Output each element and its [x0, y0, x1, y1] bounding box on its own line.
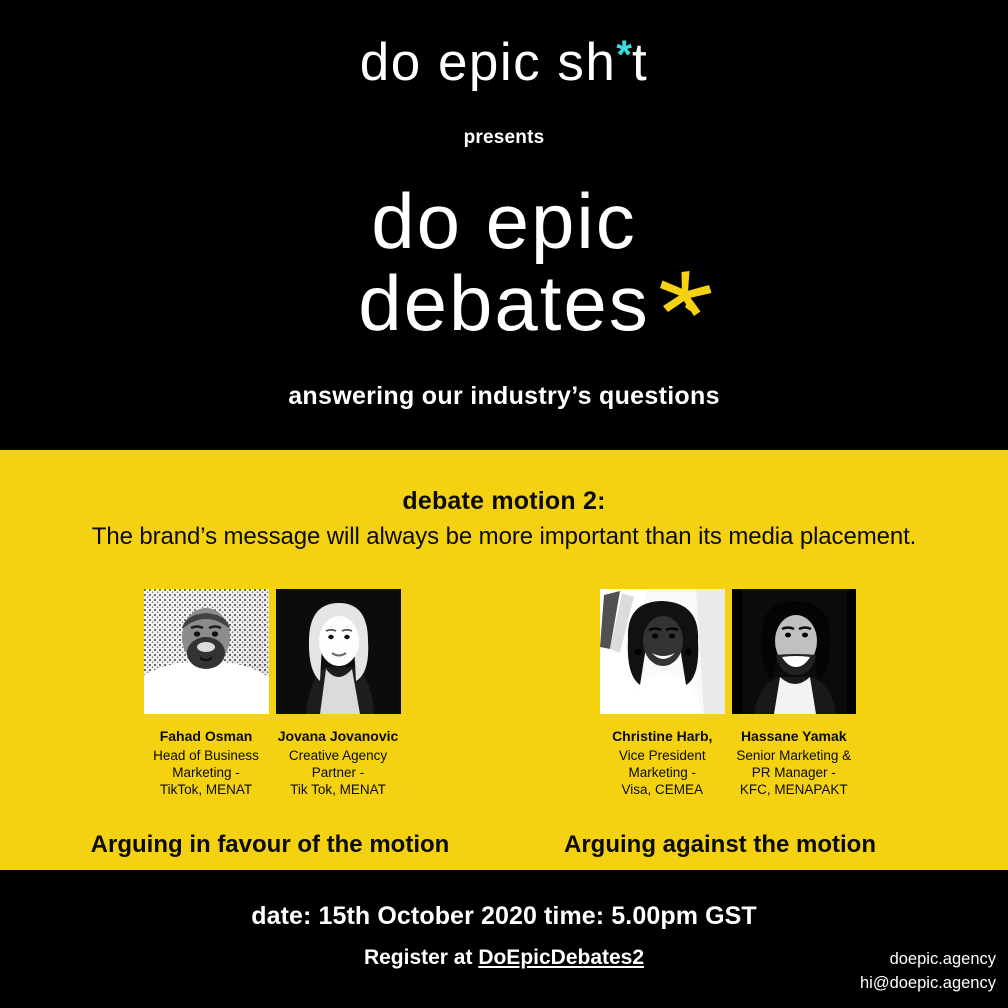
speakers-group-for: Fahad Osman Head of Business Marketing -… — [143, 589, 401, 799]
footer-section: date: 15th October 2020 time: 5.00pm GST… — [0, 870, 1008, 1008]
poster-canvas: do epic sh*t presents do epic debates an… — [0, 0, 1008, 1008]
page-title: do epic debates — [0, 181, 1008, 345]
caption-arguing-for: Arguing in favour of the motion — [60, 831, 480, 859]
speaker-name: Christine Harb, — [600, 728, 725, 746]
portrait-jovana-jovanovic — [276, 589, 401, 714]
caption-arguing-against: Arguing against the motion — [520, 831, 920, 859]
speaker-role-line: KFC, MENAPAKT — [732, 781, 857, 798]
register-line: Register at DoEpicDebates2 — [0, 946, 1008, 970]
speaker-card: Jovana Jovanovic Creative Agency Partner… — [276, 728, 401, 799]
email-address[interactable]: hi@doepic.agency — [860, 972, 996, 996]
speaker-role-line: Marketing - — [144, 764, 269, 781]
speaker-card: Hassane Yamak Senior Marketing & PR Mana… — [732, 728, 857, 799]
register-prefix: Register at — [364, 946, 478, 969]
speaker-role-line: TikTok, MENAT — [144, 781, 269, 798]
website-url[interactable]: doepic.agency — [860, 948, 996, 972]
title-line-1: do epic — [0, 181, 1008, 263]
speaker-role-line: Tik Tok, MENAT — [276, 781, 401, 798]
speaker-name: Fahad Osman — [144, 728, 269, 746]
portrait-fahad-osman — [144, 589, 269, 714]
title-line-2-text: debates — [358, 259, 650, 347]
speaker-name: Jovana Jovanovic — [276, 728, 401, 746]
motion-label: debate motion 2: — [0, 487, 1008, 516]
title-line-2: debates — [0, 263, 1008, 345]
portrait-hassane-yamak — [732, 589, 857, 714]
speaker-role-line: Senior Marketing & — [732, 747, 857, 764]
names-row-for: Fahad Osman Head of Business Marketing -… — [143, 728, 401, 799]
tagline: answering our industry’s questions — [0, 382, 1008, 411]
speaker-role-line: Vice President — [600, 747, 725, 764]
teal-asterisk-icon: * — [616, 35, 632, 75]
portrait-christine-harb — [600, 589, 725, 714]
contact-info: doepic.agency hi@doepic.agency — [860, 948, 996, 996]
speakers-group-against: Christine Harb, Vice President Marketing… — [600, 589, 856, 799]
speaker-role-line: Visa, CEMEA — [600, 781, 725, 798]
motion-text: The brand’s message will always be more … — [0, 523, 1008, 551]
brand-logo: do epic sh*t — [0, 36, 1008, 89]
photo-row-against — [600, 589, 856, 714]
event-date-time: date: 15th October 2020 time: 5.00pm GST — [0, 902, 1008, 931]
register-link[interactable]: DoEpicDebates2 — [478, 946, 644, 969]
names-row-against: Christine Harb, Vice President Marketing… — [600, 728, 856, 799]
brand-logo-pre: do epic sh — [360, 33, 617, 92]
hero-section: do epic sh*t presents do epic debates an… — [0, 0, 1008, 450]
presents-label: presents — [0, 127, 1008, 149]
speaker-card: Christine Harb, Vice President Marketing… — [600, 728, 725, 799]
speaker-role-line: Marketing - — [600, 764, 725, 781]
speaker-card: Fahad Osman Head of Business Marketing -… — [144, 728, 269, 799]
speaker-role-line: Partner - — [276, 764, 401, 781]
speaker-role-line: Creative Agency — [276, 747, 401, 764]
brand-logo-post: t — [632, 33, 648, 92]
photo-row-for — [143, 589, 401, 714]
speaker-name: Hassane Yamak — [732, 728, 857, 746]
speaker-role-line: PR Manager - — [732, 764, 857, 781]
debate-band: debate motion 2: The brand’s message wil… — [0, 450, 1008, 870]
asterisk-star-icon — [654, 263, 716, 325]
speaker-role-line: Head of Business — [144, 747, 269, 764]
